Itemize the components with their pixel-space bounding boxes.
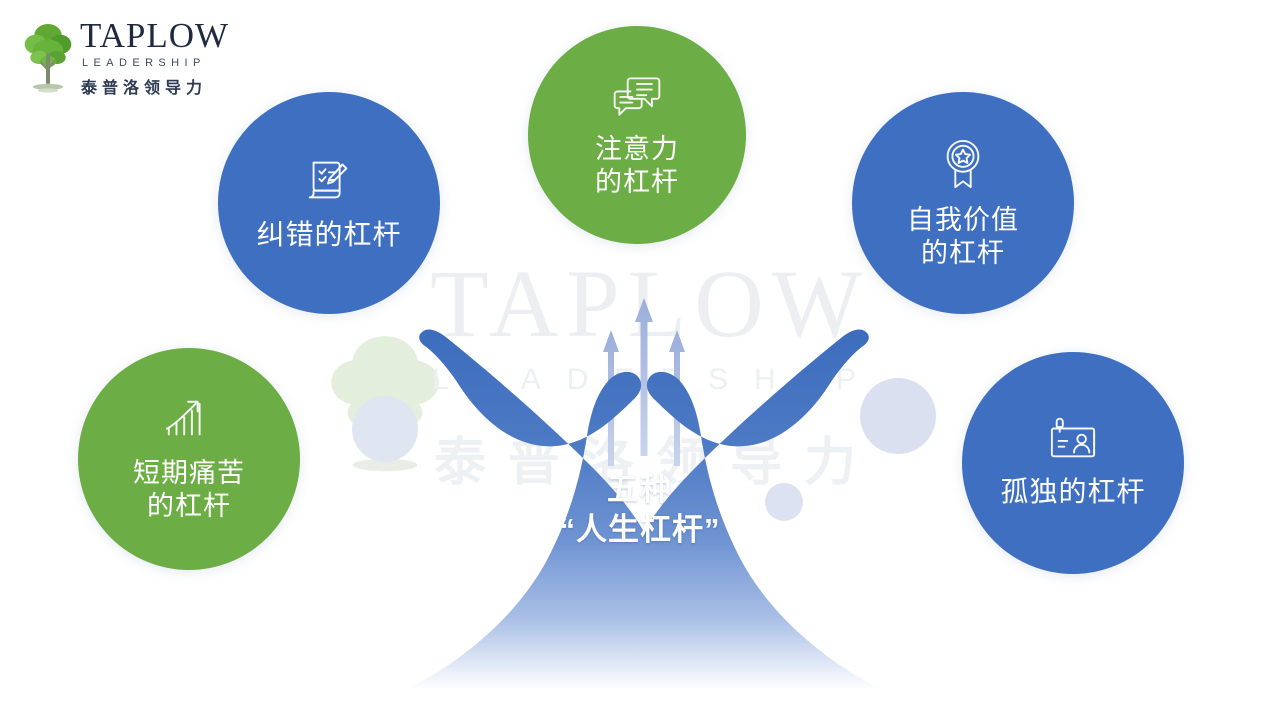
bubble-label: 短期痛苦 的杠杆 bbox=[133, 457, 245, 523]
chat-bubbles-icon bbox=[610, 72, 664, 127]
bubble-label: 注意力 的杠杆 bbox=[595, 133, 679, 199]
bubble-label: 孤独的杠杆 bbox=[1000, 475, 1145, 509]
growth-bar-chart-arrow-icon bbox=[161, 396, 217, 451]
clipboard-checklist-pencil-icon bbox=[302, 153, 356, 212]
center-title-line2: “人生杠杆” bbox=[510, 510, 770, 550]
center-title: 五种 “人生杠杆” bbox=[510, 470, 770, 551]
bubble-label: 自我价值 的杠杆 bbox=[907, 204, 1019, 270]
tree-icon bbox=[22, 20, 74, 96]
award-medal-star-icon bbox=[938, 137, 988, 198]
logo-wordmark: TAPLOW bbox=[80, 18, 229, 53]
id-badge-card-icon bbox=[1045, 416, 1101, 469]
brand-logo: TAPLOW LEADERSHIP 泰普洛领导力 bbox=[22, 18, 229, 98]
bubble-zijia[interactable]: 自我价值 的杠杆 bbox=[852, 92, 1074, 314]
slide-canvas: TAPLOW LEADERSHIP 泰普洛领导力 bbox=[0, 0, 1280, 720]
bubble-zhuyi[interactable]: 注意力 的杠杆 bbox=[528, 26, 746, 244]
center-title-line1: 五种 bbox=[510, 470, 770, 510]
logo-tagline: LEADERSHIP bbox=[82, 57, 229, 69]
logo-name-cn: 泰普洛领导力 bbox=[81, 74, 229, 98]
bubble-duanqi[interactable]: 短期痛苦 的杠杆 bbox=[78, 348, 300, 570]
bubble-label: 纠错的杠杆 bbox=[256, 218, 401, 252]
bubble-jiucuo[interactable]: 纠错的杠杆 bbox=[218, 92, 440, 314]
bubble-gudu[interactable]: 孤独的杠杆 bbox=[962, 352, 1184, 574]
